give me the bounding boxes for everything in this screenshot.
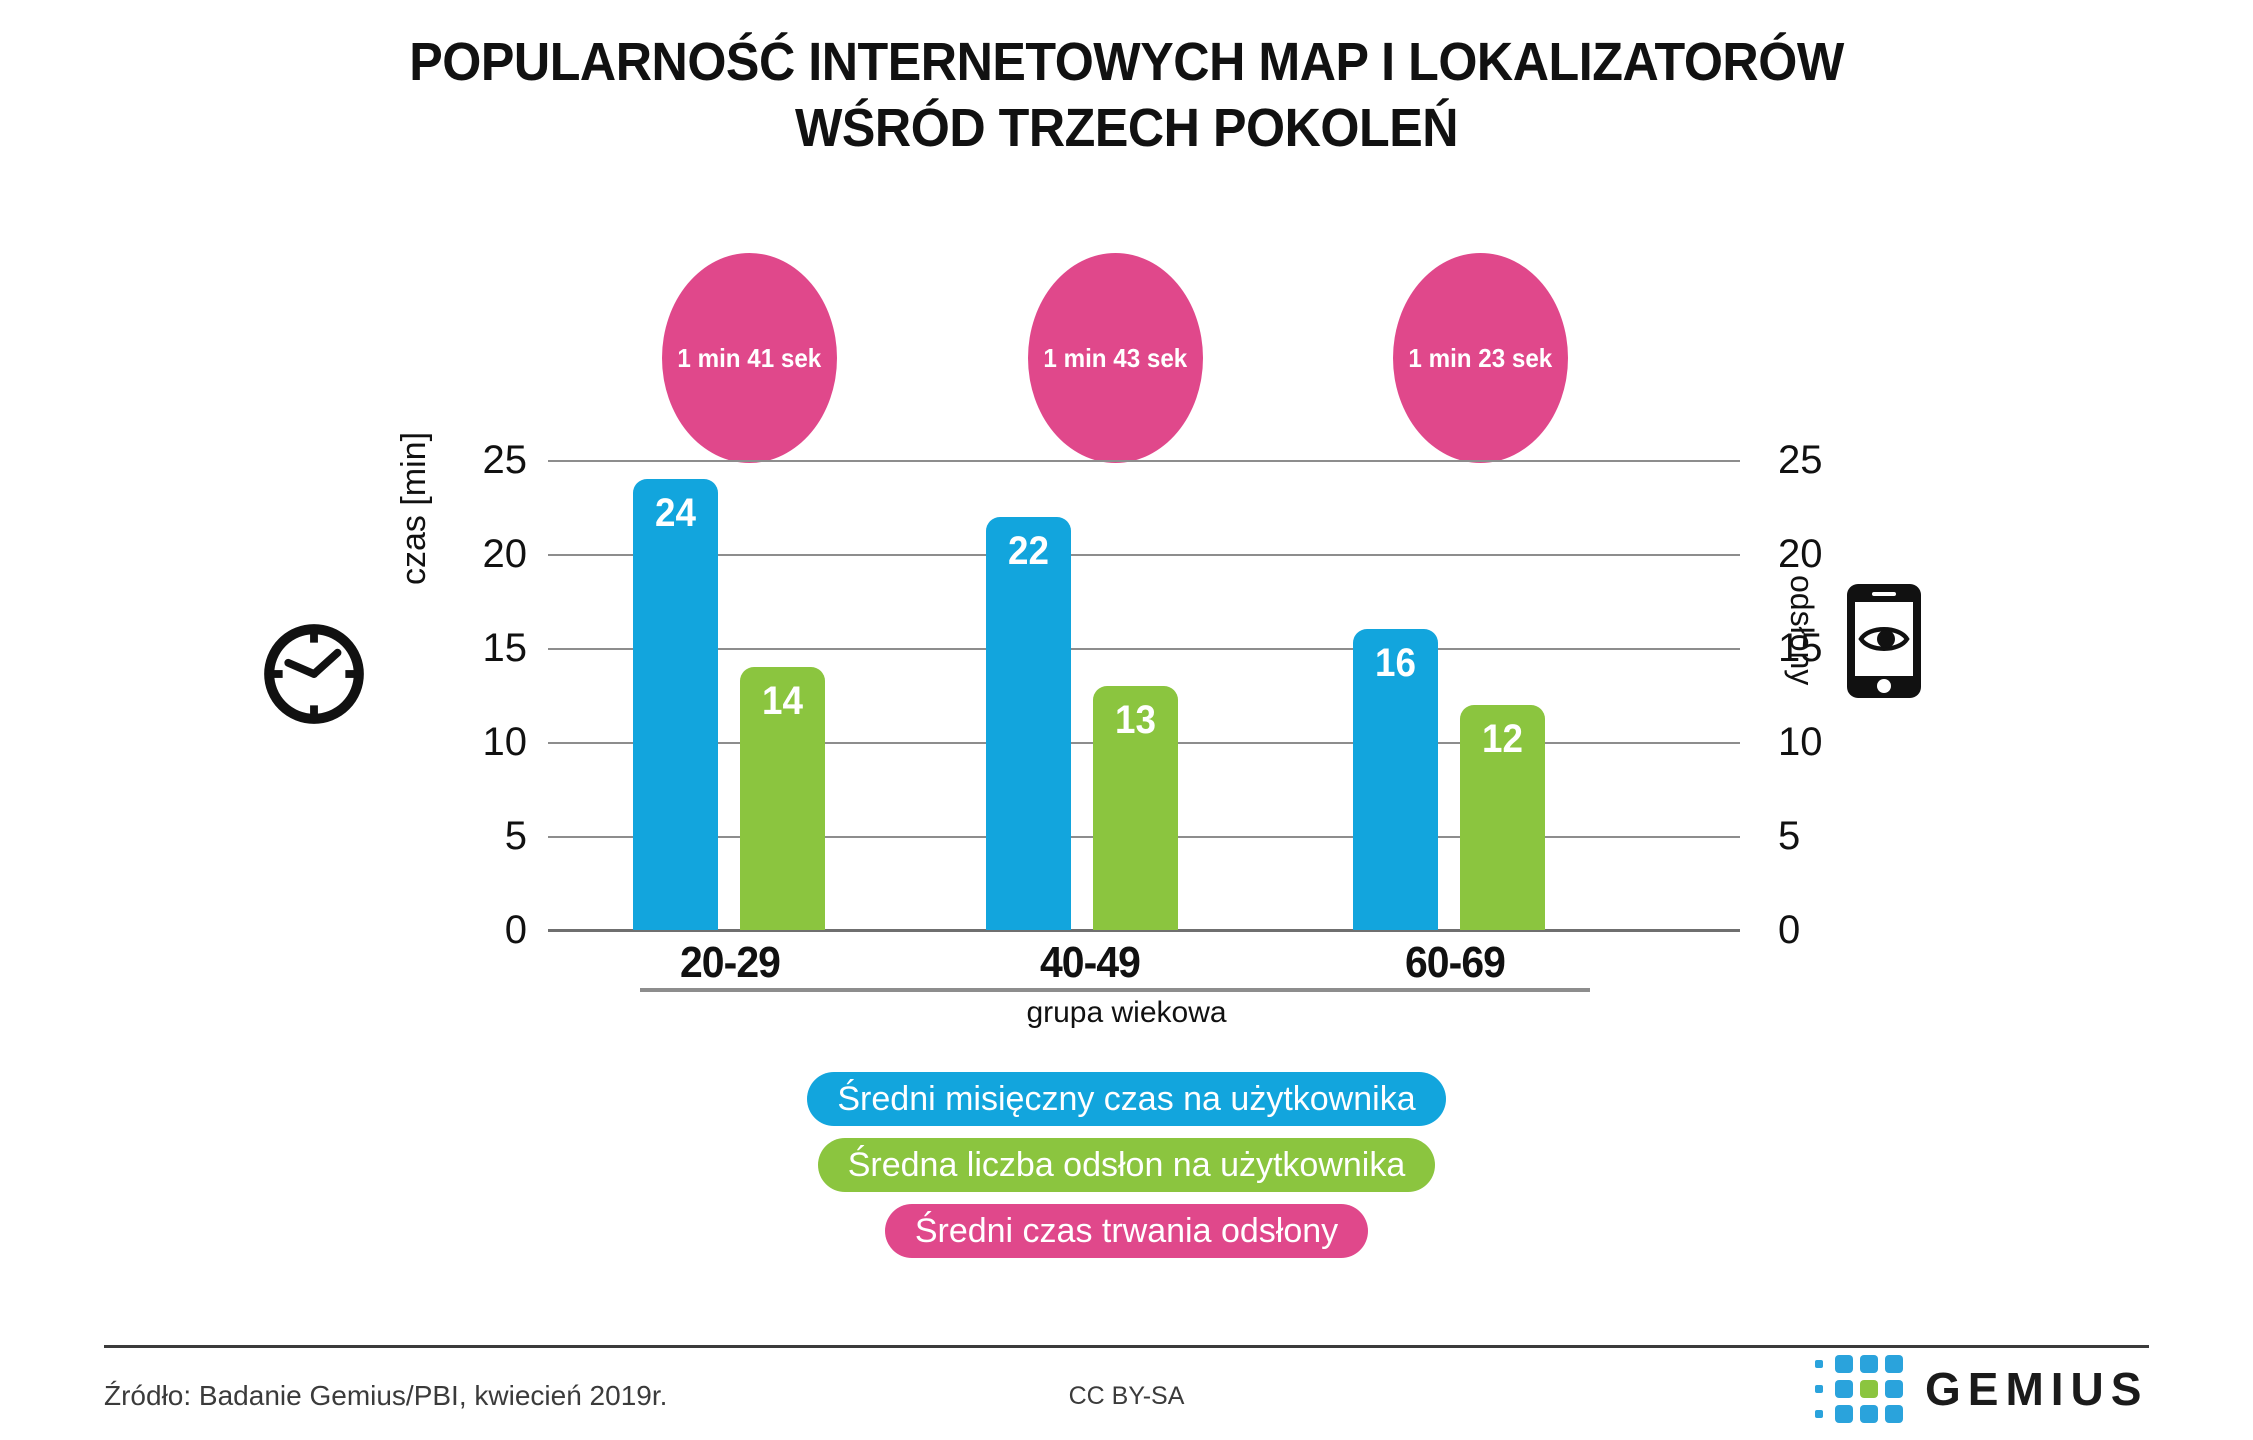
ytick-left-25: 25	[483, 440, 528, 480]
legend-item-label: Średna liczba odsłon na użytkownika	[848, 1146, 1406, 1185]
bar-60-69-time[interactable]: 16	[1353, 629, 1438, 930]
ytick-left-15: 15	[483, 628, 528, 668]
logo-cell	[1885, 1355, 1903, 1373]
logo-cell	[1860, 1355, 1878, 1373]
bar-value: 16	[1356, 643, 1434, 683]
ytick-left-0: 0	[505, 910, 527, 950]
bar-value: 22	[989, 531, 1067, 571]
bar-40-49-time[interactable]: 22	[986, 517, 1071, 930]
gemius-logo-grid	[1810, 1355, 1903, 1423]
ytick-left-20: 20	[483, 534, 528, 574]
gridline-15	[548, 648, 1740, 650]
bar-value: 13	[1096, 700, 1174, 740]
ytick-left-10: 10	[483, 722, 528, 762]
bubble-annotation-60-69: 1 min 23 sek	[1393, 253, 1568, 463]
ytick-right-10: 10	[1778, 722, 1823, 762]
legend-item-avg-monthly-time[interactable]: Średni misięczny czas na użytkownika	[807, 1072, 1445, 1126]
bar-20-29-time[interactable]: 24	[633, 479, 718, 930]
logo-cell	[1835, 1405, 1853, 1423]
logo-cell	[1815, 1385, 1823, 1393]
ytick-right-0: 0	[1778, 910, 1800, 950]
bubble-annotation-20-29: 1 min 41 sek	[662, 253, 837, 463]
legend-item-avg-pageviews[interactable]: Średna liczba odsłon na użytkownika	[818, 1138, 1436, 1192]
ytick-left-5: 5	[505, 816, 527, 856]
plot-area: 0 5 10 15 20 25 0 5 10 15 20 25 24 14 22…	[548, 460, 1740, 930]
bar-value: 14	[743, 681, 821, 721]
page-title-line-2: WŚRÓD TRZECH POKOLEŃ	[79, 96, 2174, 162]
bar-value: 12	[1463, 719, 1541, 759]
xaxis-rule	[640, 988, 1590, 992]
gridline-25	[548, 460, 1740, 462]
ytick-right-25: 25	[1778, 440, 1823, 480]
yaxis-left-title: czas [min]	[395, 432, 434, 585]
bubble-annotation-label: 1 min 43 sek	[1044, 343, 1188, 374]
page-title-line-1: POPULARNOŚĆ INTERNETOWYCH MAP I LOKALIZA…	[79, 30, 2174, 96]
bar-60-69-views[interactable]: 12	[1460, 705, 1545, 930]
smartphone-eye-icon	[1845, 582, 1923, 705]
logo-cell	[1885, 1380, 1903, 1398]
logo-cell	[1860, 1405, 1878, 1423]
logo-cell-accent	[1860, 1380, 1878, 1398]
footer-divider	[104, 1345, 2149, 1348]
bar-value: 24	[636, 493, 714, 533]
xtick-40-49: 40-49	[969, 938, 1211, 988]
ytick-right-20: 20	[1778, 534, 1823, 574]
ytick-right-5: 5	[1778, 816, 1800, 856]
legend-item-label: Średni czas trwania odsłony	[915, 1212, 1338, 1251]
gridline-20	[548, 554, 1740, 556]
xtick-60-69: 60-69	[1334, 938, 1576, 988]
logo-cell	[1835, 1355, 1853, 1373]
yaxis-right-title: odsłony	[1783, 575, 1820, 685]
bar-20-29-views[interactable]: 14	[740, 667, 825, 930]
logo-cell	[1885, 1405, 1903, 1423]
logo-cell	[1815, 1410, 1823, 1418]
bar-40-49-views[interactable]: 13	[1093, 686, 1178, 930]
page-title: POPULARNOŚĆ INTERNETOWYCH MAP I LOKALIZA…	[79, 30, 2174, 162]
gemius-wordmark: GEMIUS	[1925, 1362, 2148, 1416]
legend-item-avg-pageview-duration[interactable]: Średni czas trwania odsłony	[885, 1204, 1368, 1258]
clock-icon	[258, 618, 370, 735]
legend: Średni misięczny czas na użytkownika Śre…	[0, 1072, 2253, 1258]
xtick-20-29: 20-29	[609, 938, 851, 988]
bubble-annotation-label: 1 min 41 sek	[678, 343, 822, 374]
bubble-annotation-40-49: 1 min 43 sek	[1028, 253, 1203, 463]
legend-item-label: Średni misięczny czas na użytkownika	[837, 1080, 1415, 1119]
logo-cell	[1815, 1360, 1823, 1368]
gemius-logo: GEMIUS	[1810, 1355, 2148, 1423]
xaxis-title: grupa wiekowa	[0, 996, 2253, 1030]
bubble-annotation-label: 1 min 23 sek	[1409, 343, 1553, 374]
logo-cell	[1835, 1380, 1853, 1398]
